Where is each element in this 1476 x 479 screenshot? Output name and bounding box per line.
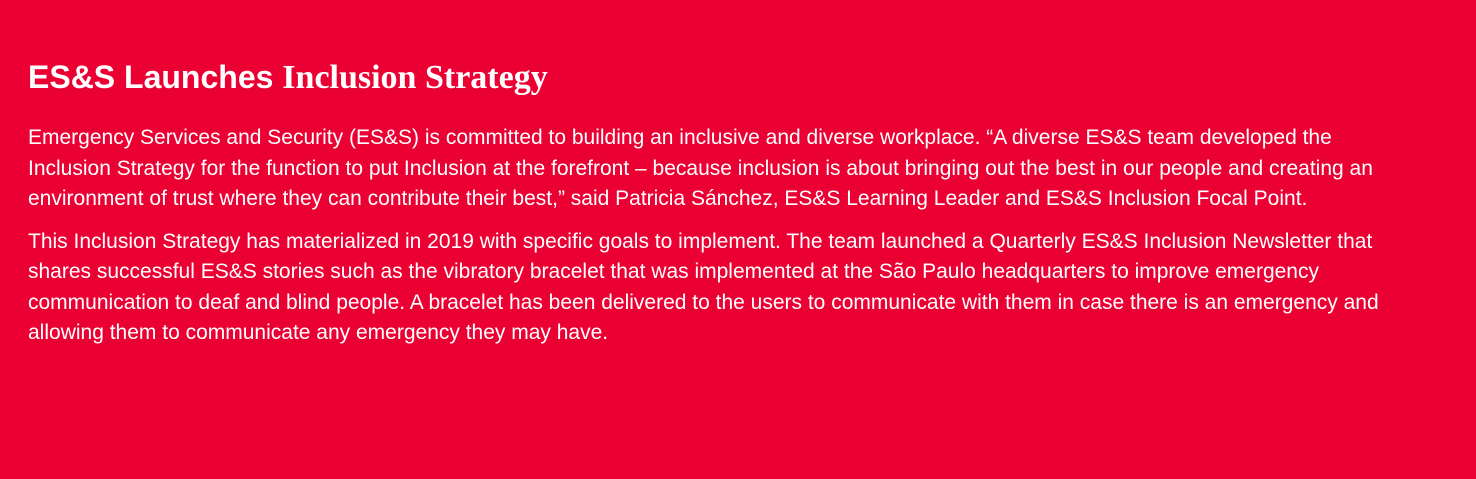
article-paragraph-2: This Inclusion Strategy has materialized…	[28, 227, 1380, 349]
page-title-sans-part: ES&S Launches	[28, 59, 282, 95]
article-paragraph-1: Emergency Services and Security (ES&S) i…	[28, 123, 1380, 215]
page-title-serif-part: Inclusion Strategy	[282, 59, 547, 96]
page-title: ES&S Launches Inclusion Strategy	[28, 58, 1404, 97]
article-panel: ES&S Launches Inclusion Strategy Emergen…	[0, 0, 1476, 479]
article-body: Emergency Services and Security (ES&S) i…	[28, 123, 1380, 349]
